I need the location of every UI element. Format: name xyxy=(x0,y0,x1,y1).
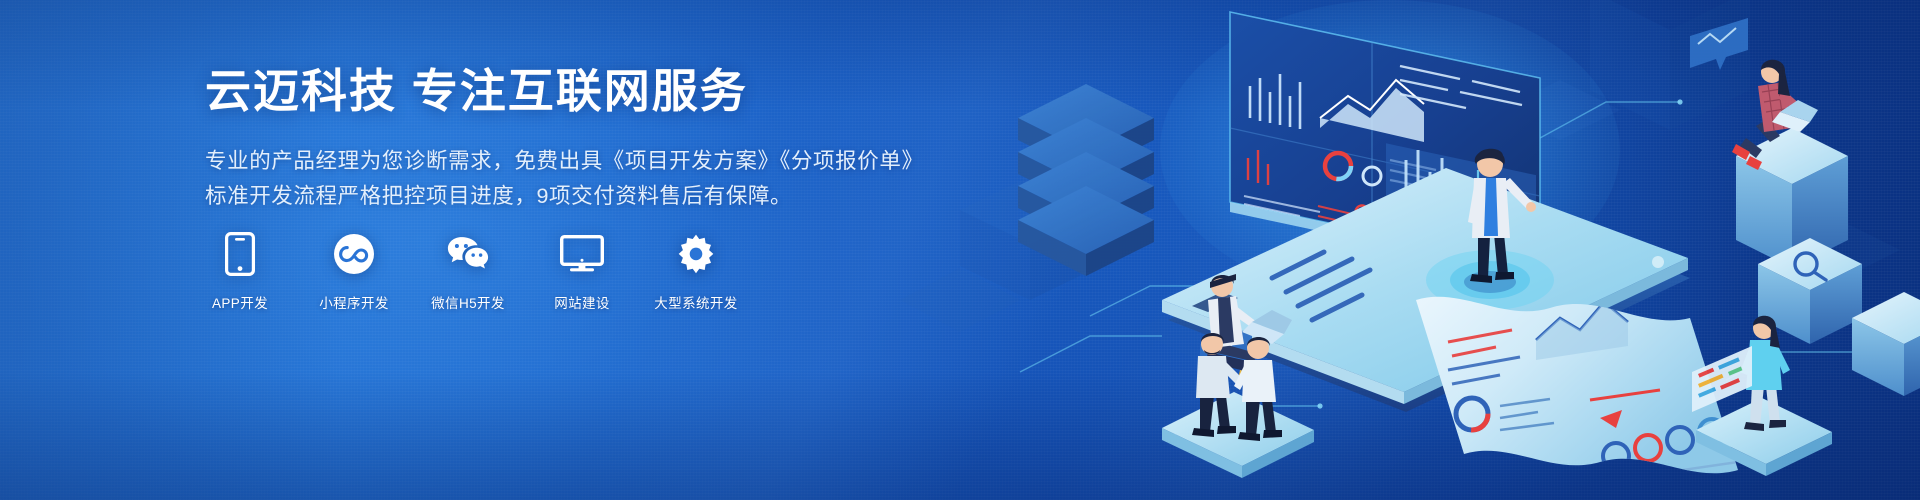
subtitle-line-2: 标准开发流程严格把控项目进度，9项交付资料售后有保障。 xyxy=(205,179,965,214)
floating-tile xyxy=(1696,398,1832,476)
standing-person-pointing xyxy=(1464,149,1536,293)
service-item-miniprogram[interactable]: 小程序开发 xyxy=(317,232,391,312)
service-label: 大型系统开发 xyxy=(654,292,737,312)
geometric-blocks xyxy=(1736,128,1920,396)
service-label: 微信H5开发 xyxy=(431,292,505,312)
service-item-large-system[interactable]: 大型系统开发 xyxy=(659,232,733,312)
banner-subtitle: 专业的产品经理为您诊断需求，免费出具《项目开发方案》《分项报价单》 标准开发流程… xyxy=(205,144,965,214)
floating-tile xyxy=(1162,392,1314,478)
floating-chart-card xyxy=(1690,18,1748,70)
circuit-lines xyxy=(1020,102,1862,440)
service-item-wechat-h5[interactable]: 微信H5开发 xyxy=(431,232,505,312)
two-people-on-tile xyxy=(1192,333,1282,441)
service-label: 小程序开发 xyxy=(319,292,389,312)
smartphone-platform xyxy=(1162,168,1690,412)
banner-copy: 云迈科技 专注互联网服务 专业的产品经理为您诊断需求，免费出具《项目开发方案》《… xyxy=(205,66,965,214)
mini-program-icon xyxy=(332,232,376,276)
service-item-app[interactable]: APP开发 xyxy=(203,232,277,312)
floating-chart-card xyxy=(1200,328,1252,376)
isometric-tech-illustration xyxy=(900,0,1920,500)
background-geometry xyxy=(900,0,1900,362)
curved-data-sheet xyxy=(1416,297,1757,500)
page-title: 云迈科技 专注互联网服务 xyxy=(205,66,965,118)
subtitle-line-1: 专业的产品经理为您诊断需求，免费出具《项目开发方案》《分项报价单》 xyxy=(205,144,965,179)
monitor-icon xyxy=(560,232,604,276)
gear-icon xyxy=(674,232,718,276)
service-label: 网站建设 xyxy=(554,292,610,312)
woman-on-pedestal-laptop xyxy=(1732,60,1818,170)
promo-banner: 云迈科技 专注互联网服务 专业的产品经理为您诊断需求，免费出具《项目开发方案》《… xyxy=(0,0,1920,500)
code-card xyxy=(1692,346,1752,412)
dashboard-screen xyxy=(1230,12,1540,347)
server-stack xyxy=(1018,84,1154,276)
seated-person-laptop xyxy=(1198,274,1292,384)
mobile-phone-icon xyxy=(218,232,262,276)
service-list: APP开发 小程序开发 微信 xyxy=(203,232,733,312)
service-item-website[interactable]: 网站建设 xyxy=(545,232,619,312)
search-icon-3d xyxy=(1795,253,1826,280)
woman-on-tile xyxy=(1740,316,1790,431)
service-label: APP开发 xyxy=(212,292,268,312)
wechat-icon xyxy=(446,232,490,276)
